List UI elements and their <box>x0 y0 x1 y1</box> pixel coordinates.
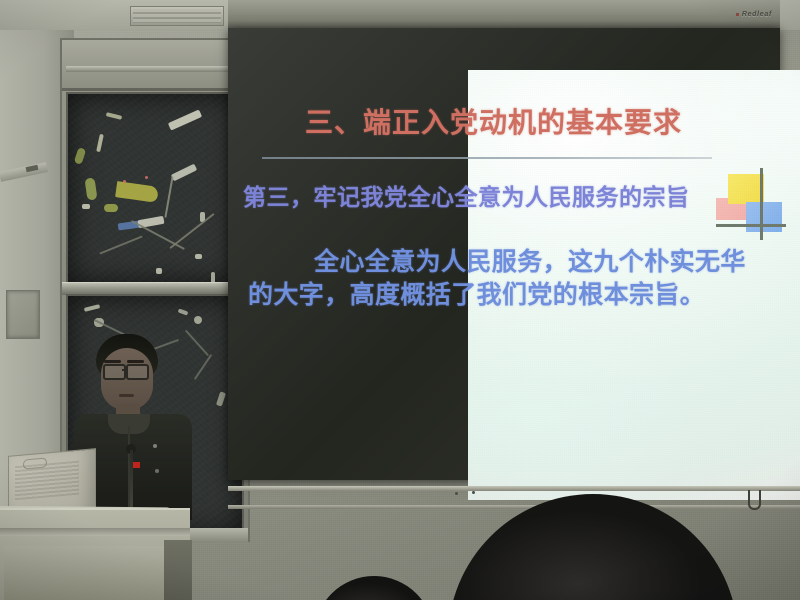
motif-horizontal-line <box>716 224 786 227</box>
podium-front-panel <box>4 546 166 600</box>
jacket-button <box>153 444 157 448</box>
wall-speck <box>455 492 458 495</box>
slide-title-rule <box>262 157 712 159</box>
jacket-button <box>155 469 159 473</box>
presenter-brow-left <box>104 360 121 363</box>
presenter-mouth <box>119 394 134 397</box>
brand-bullet-icon <box>736 13 739 16</box>
chalk-mark <box>194 316 202 324</box>
chalk-mark <box>156 268 162 274</box>
podium-lip <box>0 528 190 536</box>
wall-trim-upper <box>228 486 800 491</box>
screen-brand-label: Redleaf <box>736 11 772 18</box>
slide-title: 三、端正入党动机的基本要求 <box>305 108 725 139</box>
glasses-lens-right <box>126 364 149 380</box>
chalk-mark <box>104 204 118 212</box>
brand-text: Redleaf <box>742 11 772 18</box>
chalk-mark <box>123 180 126 183</box>
wall-switch-plate[interactable] <box>6 290 40 339</box>
presenter-badge <box>132 462 140 468</box>
slide-body-text: 全心全意为人民服务，这九个朴实无华的大字，高度概括了我们党的根本宗旨。 <box>248 246 760 311</box>
podium-side-panel <box>164 540 192 600</box>
presenter-brow-right <box>127 360 144 363</box>
chalk-mark <box>82 204 90 209</box>
ceiling-vent <box>130 6 224 26</box>
slide-subtitle: 第三，牢记我党全心全意为人民服务的宗旨 <box>243 184 773 212</box>
chalk-mark <box>195 254 202 259</box>
wall-trim-lower <box>228 505 800 509</box>
classroom-photo: Redleaf 三、端正入党动机的基本要求 第三，牢记我党全心全意为人民服务的宗… <box>0 0 800 600</box>
glasses-lens-left <box>103 364 126 380</box>
blackboard-upper <box>66 92 244 286</box>
wall-speck <box>472 491 475 494</box>
blackboard-slide-rail <box>66 66 238 72</box>
chalk-mark <box>145 176 148 179</box>
glasses-bridge <box>122 369 127 371</box>
vent-slats <box>133 9 221 23</box>
screen-pull-hook-icon[interactable] <box>748 490 761 510</box>
